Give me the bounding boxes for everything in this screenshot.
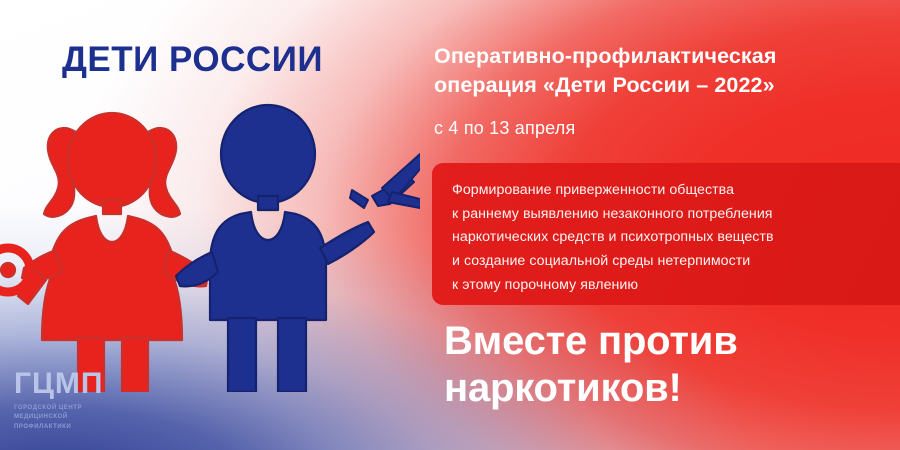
gcmp-logo: ГЦМП ГОРОДСКОЙ ЦЕНТР МЕДИЦИНСКОЙ ПРОФИЛА… <box>14 369 154 432</box>
poster-canvas: ДЕТИ РОССИИ <box>0 0 900 450</box>
logo-mark-text: ГЦМП <box>14 369 154 399</box>
logo-subtitle-line-3: ПРОФИЛАКТИКИ <box>14 423 154 432</box>
slogan-line-2: наркотиков! <box>444 365 738 412</box>
description-line-1: Формирование приверженности общества <box>452 179 882 203</box>
campaign-slogan: Вместе против наркотиков! <box>444 318 738 412</box>
logo-subtitle-line-2: МЕДИЦИНСКОЙ <box>14 413 154 422</box>
toy-airplane-icon <box>350 154 420 208</box>
page-title: ДЕТИ РОССИИ <box>62 40 323 80</box>
logo-subtitle-line-1: ГОРОДСКОЙ ЦЕНТР <box>14 404 154 413</box>
description-line-5: к этому порочному явлению <box>452 274 882 298</box>
girl-figure-red <box>0 113 208 392</box>
description-line-4: и создание социальной среды нетерпимости <box>452 250 882 274</box>
description-line-2: к раннему выявлению незаконного потребле… <box>452 203 882 227</box>
description-line-3: наркотических средств и психотропных вещ… <box>452 226 882 250</box>
description-box: Формирование приверженности общества к р… <box>432 163 900 305</box>
boy-figure-blue <box>176 105 374 392</box>
children-illustration <box>0 92 420 392</box>
campaign-dates: с 4 по 13 апреля <box>434 118 575 139</box>
logo-subtitle: ГОРОДСКОЙ ЦЕНТР МЕДИЦИНСКОЙ ПРОФИЛАКТИКИ <box>14 404 154 432</box>
campaign-headline: Оперативно-профилактическая операция «Де… <box>434 42 884 100</box>
slogan-line-1: Вместе против <box>444 318 738 365</box>
